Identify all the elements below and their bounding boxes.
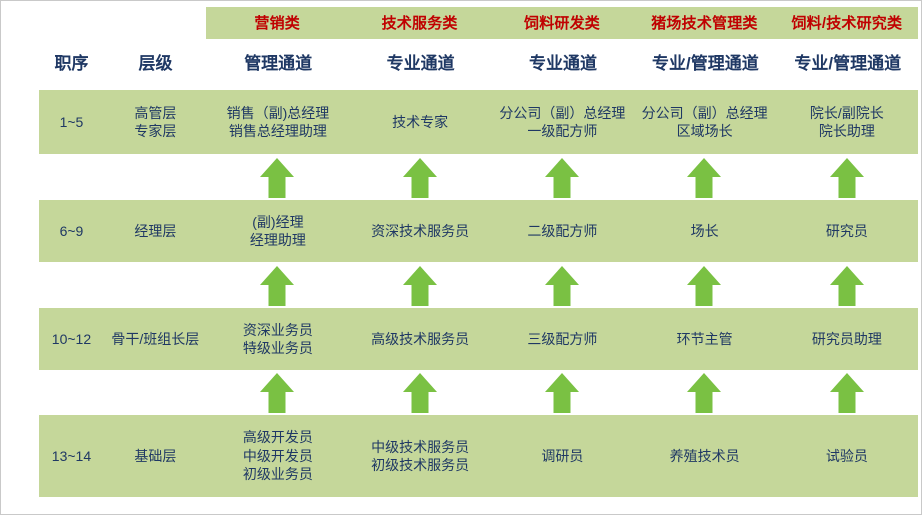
header-sequence: 职序 bbox=[39, 55, 104, 72]
row-3-job-feed-rd: 三级配方师 bbox=[491, 330, 633, 348]
row-1-job-feed-rd: 分公司（副）总经理 一级配方师 bbox=[491, 104, 633, 141]
category-label-marketing: 营销类 bbox=[206, 16, 348, 31]
row-1-job-feed-tech-research: 院长/副院长 院长助理 bbox=[776, 104, 918, 141]
row-3-job-marketing: 资深业务员 特级业务员 bbox=[207, 321, 349, 358]
ladder-row-1: 1~5 高管层 专家层 销售（副)总经理 销售总经理助理 技术专家 分公司（副）… bbox=[39, 90, 918, 154]
career-ladder-diagram: 营销类 技术服务类 饲料研发类 猪场技术管理类 饲料/技术研究类 职序 层级 管… bbox=[0, 0, 922, 515]
ladder-row-4: 13~14 基础层 高级开发员 中级开发员 初级业务员 中级技术服务员 初级技术… bbox=[39, 415, 918, 497]
arrow-up-icon-row3-tech-service bbox=[402, 372, 438, 414]
ladder-row-2: 6~9 经理层 (副)经理 经理助理 资深技术服务员 二级配方师 场长 研究员 bbox=[39, 200, 918, 262]
category-strip: 营销类 技术服务类 饲料研发类 猪场技术管理类 饲料/技术研究类 bbox=[206, 7, 918, 39]
row-1-job-marketing: 销售（副)总经理 销售总经理助理 bbox=[207, 104, 349, 141]
row-4-job-farm-tech-mgmt: 养殖技术员 bbox=[634, 447, 776, 465]
header-channel-marketing: 管理通道 bbox=[207, 55, 349, 72]
row-4-job-feed-rd: 调研员 bbox=[491, 447, 633, 465]
row-2-job-feed-rd: 二级配方师 bbox=[491, 222, 633, 240]
arrow-up-icon-row3-feed-tech-research bbox=[829, 372, 865, 414]
row-3-job-feed-tech-research: 研究员助理 bbox=[776, 330, 918, 348]
arrow-up-icon-row2-feed-rd bbox=[544, 265, 580, 307]
header-channel-feed-tech-research: 专业/管理通道 bbox=[777, 55, 919, 72]
row-4-job-marketing: 高级开发员 中级开发员 初级业务员 bbox=[207, 428, 349, 483]
header-channel-tech-service: 专业通道 bbox=[349, 55, 491, 72]
row-1-sequence: 1~5 bbox=[39, 113, 104, 131]
arrow-up-icon-row1-tech-service bbox=[402, 157, 438, 199]
row-2-job-farm-tech-mgmt: 场长 bbox=[634, 222, 776, 240]
header-level: 层级 bbox=[104, 55, 207, 72]
arrow-up-icon-row1-farm-tech-mgmt bbox=[686, 157, 722, 199]
row-1-job-farm-tech-mgmt: 分公司（副）总经理 区域场长 bbox=[634, 104, 776, 141]
ladder-row-3: 10~12 骨干/班组长层 资深业务员 特级业务员 高级技术服务员 三级配方师 … bbox=[39, 308, 918, 370]
row-2-job-feed-tech-research: 研究员 bbox=[776, 222, 918, 240]
row-4-job-feed-tech-research: 试验员 bbox=[776, 447, 918, 465]
row-3-level: 骨干/班组长层 bbox=[104, 330, 207, 348]
row-4-level: 基础层 bbox=[104, 447, 207, 465]
arrow-up-icon-row3-feed-rd bbox=[544, 372, 580, 414]
category-label-tech-service: 技术服务类 bbox=[348, 16, 490, 31]
category-label-farm-tech-mgmt: 猪场技术管理类 bbox=[633, 16, 775, 31]
row-4-sequence: 13~14 bbox=[39, 447, 104, 465]
arrow-up-icon-row1-feed-tech-research bbox=[829, 157, 865, 199]
row-1-job-tech-service: 技术专家 bbox=[349, 113, 491, 131]
arrow-up-icon-row2-farm-tech-mgmt bbox=[686, 265, 722, 307]
row-3-job-tech-service: 高级技术服务员 bbox=[349, 330, 491, 348]
column-header-row: 职序 层级 管理通道 专业通道 专业通道 专业/管理通道 专业/管理通道 bbox=[1, 43, 922, 83]
row-2-sequence: 6~9 bbox=[39, 222, 104, 240]
row-1-level: 高管层 专家层 bbox=[104, 104, 207, 141]
arrow-up-icon-row3-marketing bbox=[259, 372, 295, 414]
arrow-up-icon-row2-marketing bbox=[259, 265, 295, 307]
header-channel-feed-rd: 专业通道 bbox=[492, 55, 634, 72]
header-channel-farm-tech-mgmt: 专业/管理通道 bbox=[634, 55, 776, 72]
arrow-up-icon-row2-tech-service bbox=[402, 265, 438, 307]
arrow-up-icon-row1-feed-rd bbox=[544, 157, 580, 199]
row-2-job-tech-service: 资深技术服务员 bbox=[349, 222, 491, 240]
arrow-up-icon-row1-marketing bbox=[259, 157, 295, 199]
row-2-job-marketing: (副)经理 经理助理 bbox=[207, 213, 349, 250]
category-label-feed-rd: 饲料研发类 bbox=[491, 16, 633, 31]
row-3-job-farm-tech-mgmt: 环节主管 bbox=[634, 330, 776, 348]
row-2-level: 经理层 bbox=[104, 222, 207, 240]
arrow-up-icon-row3-farm-tech-mgmt bbox=[686, 372, 722, 414]
row-4-job-tech-service: 中级技术服务员 初级技术服务员 bbox=[349, 438, 491, 475]
category-label-feed-tech-research: 饲料/技术研究类 bbox=[776, 16, 918, 31]
arrow-up-icon-row2-feed-tech-research bbox=[829, 265, 865, 307]
row-3-sequence: 10~12 bbox=[39, 330, 104, 348]
